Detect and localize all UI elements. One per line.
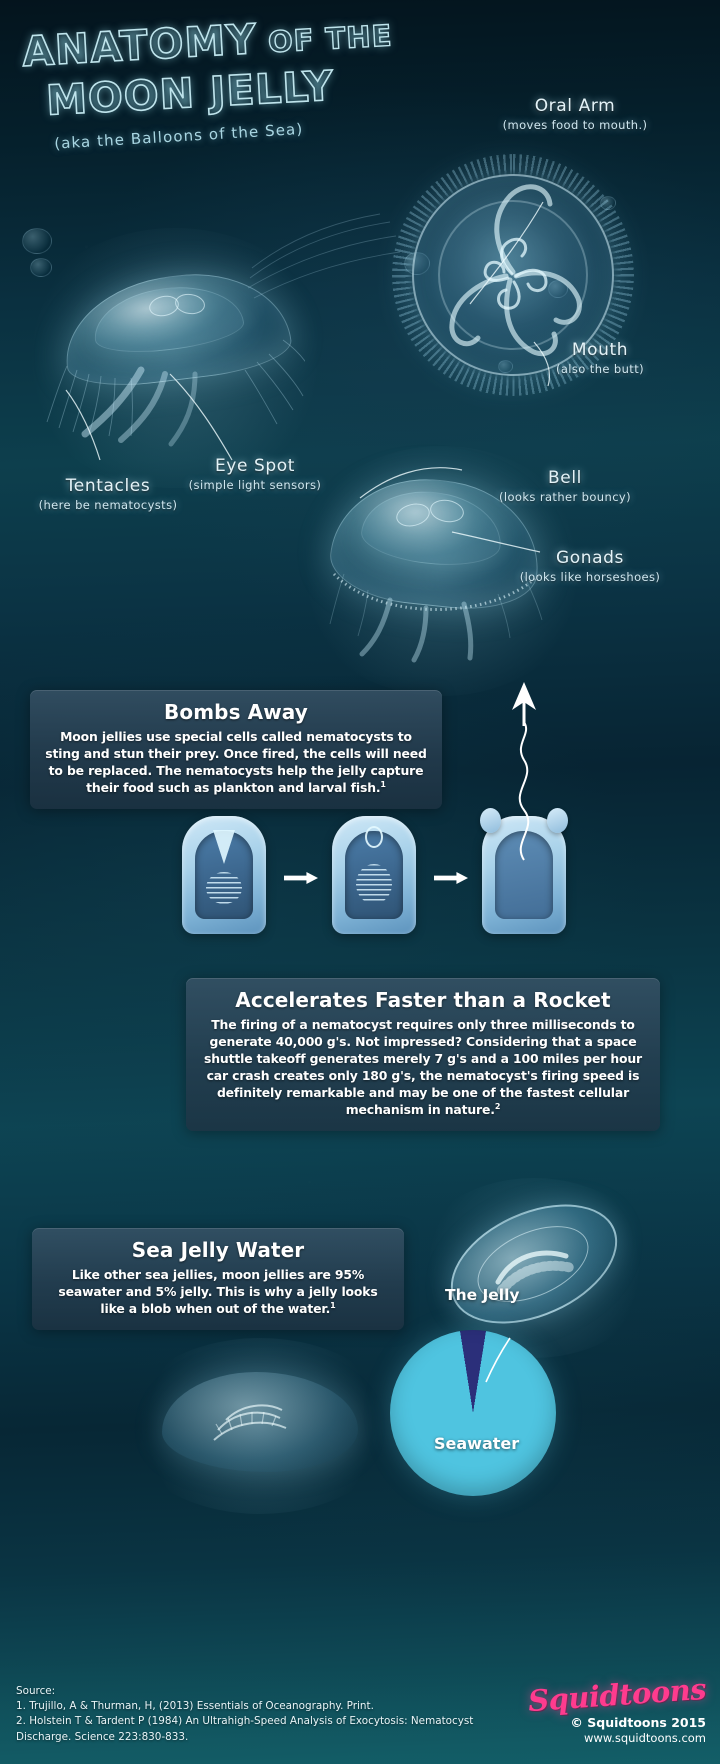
panel-bombs-away-heading: Bombs Away: [44, 700, 428, 724]
blob-fringe-shape: [150, 1360, 370, 1490]
panel-accelerates-heading: Accelerates Faster than a Rocket: [200, 988, 646, 1012]
bubble-icon: [600, 196, 616, 210]
panel-bombs-away: Bombs Away Moon jellies use special cell…: [30, 690, 442, 809]
pie-slice-label-jelly: The Jelly: [445, 1286, 520, 1304]
anatomy-label-eye-spot-term: Eye Spot: [160, 456, 350, 476]
anatomy-label-gonads-note: (looks like horseshoes): [470, 570, 710, 584]
nematocyst-firing-sequence-diagram: [160, 810, 580, 950]
anatomy-label-tentacles-note: (here be nematocysts): [18, 498, 198, 512]
panel-accelerates: Accelerates Faster than a Rocket The fir…: [186, 978, 660, 1131]
anatomy-label-bell-note: (looks rather bouncy): [450, 490, 680, 504]
page-title: ANATOMY OF THE MOON JELLY (aka the Ballo…: [20, 18, 380, 143]
sequence-arrow-2: [434, 872, 468, 884]
barb-icon: [213, 830, 235, 864]
source-ref-2: 2. Holstein T & Tardent P (1984) An Ultr…: [16, 1714, 476, 1744]
source-heading: Source:: [16, 1684, 476, 1699]
pie-slice-label-seawater: Seawater: [434, 1434, 519, 1453]
panel-sea-jelly-water-footnote: 1: [330, 1301, 335, 1310]
gastric-folds-shape: [436, 1198, 632, 1338]
panel-sea-jelly-water-heading: Sea Jelly Water: [46, 1238, 390, 1262]
panel-accelerates-footnote: 2: [495, 1102, 500, 1111]
everting-tube-icon: [365, 826, 383, 848]
title-line1-small: OF THE: [256, 18, 393, 60]
nematocyst-stage-2: [332, 816, 416, 934]
brand-block: Squidtoons © Squidtoons 2015 www.squidto…: [506, 1678, 706, 1745]
squidtoons-logo: Squidtoons: [527, 1672, 707, 1718]
nematocyst-stage-1: [182, 816, 266, 934]
sequence-arrow-1: [284, 872, 318, 884]
website-url[interactable]: www.squidtoons.com: [506, 1731, 706, 1745]
panel-bombs-away-footnote: 1: [380, 780, 385, 789]
anatomy-label-mouth-note: (also the butt): [500, 362, 700, 376]
anatomy-label-gonads-term: Gonads: [470, 548, 710, 568]
source-citations: Source: 1. Trujillo, A & Thurman, H, (20…: [16, 1684, 476, 1745]
anatomy-label-bell: Bell (looks rather bouncy): [450, 468, 680, 504]
fired-dart-icon: [478, 682, 598, 862]
panel-sea-jelly-water: Sea Jelly Water Like other sea jellies, …: [32, 1228, 404, 1330]
anatomy-label-oral-arm-term: Oral Arm: [470, 96, 680, 116]
tentacle-spray-shape: [240, 208, 540, 368]
anatomy-label-oral-arm: Oral Arm (moves food to mouth.): [470, 96, 680, 132]
anatomy-label-mouth-term: Mouth: [500, 340, 700, 360]
anatomy-label-mouth: Mouth (also the butt): [500, 340, 700, 376]
source-ref-1: 1. Trujillo, A & Thurman, H, (2013) Esse…: [16, 1699, 476, 1714]
infographic-poster: ANATOMY OF THE MOON JELLY (aka the Ballo…: [0, 0, 720, 1764]
jellyfish-tilted-illustration: [436, 1198, 632, 1338]
jellyfish-blob-illustration: [150, 1360, 370, 1490]
bubble-icon: [548, 280, 568, 298]
anatomy-label-gonads: Gonads (looks like horseshoes): [470, 548, 710, 584]
pie-chart-graphic: [390, 1330, 556, 1496]
panel-accelerates-body: The firing of a nematocyst requires only…: [200, 1017, 646, 1119]
anatomy-label-eye-spot-note: (simple light sensors): [160, 478, 350, 492]
panel-bombs-away-body: Moon jellies use special cells called ne…: [44, 729, 428, 797]
anatomy-label-eye-spot: Eye Spot (simple light sensors): [160, 456, 350, 492]
sea-jelly-water-pie-chart: Seawater The Jelly: [390, 1330, 580, 1520]
bubble-icon: [30, 258, 52, 277]
anatomy-label-oral-arm-note: (moves food to mouth.): [470, 118, 680, 132]
panel-sea-jelly-water-body: Like other sea jellies, moon jellies are…: [46, 1267, 390, 1318]
anatomy-label-bell-term: Bell: [450, 468, 680, 488]
bubble-icon: [22, 228, 52, 254]
